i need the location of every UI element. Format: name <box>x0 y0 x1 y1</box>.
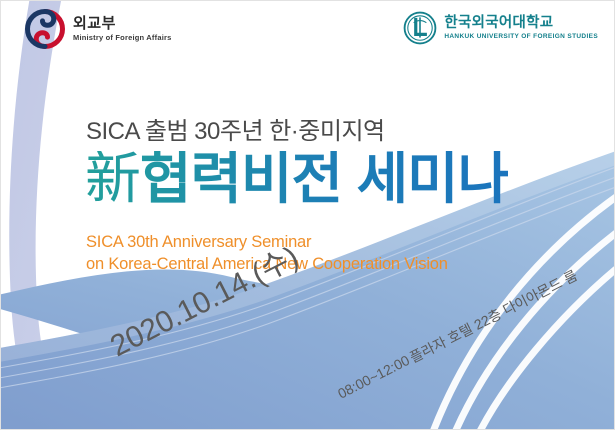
kicker-line: SICA 출범 30주년 한·중미지역 <box>86 111 385 146</box>
hufs-korean-name: 한국외국어대학교 <box>444 16 598 31</box>
hufs-english-name: HANKUK UNIVERSITY OF FOREIGN STUDIES <box>444 34 598 41</box>
english-subtitle: SICA 30th Anniversary Seminar on Korea-C… <box>86 231 448 276</box>
hufs-logo: 한국외국어대학교 HANKUK UNIVERSITY OF FOREIGN ST… <box>403 11 598 45</box>
headline-rest: 협력비전 세미나 <box>140 147 508 210</box>
headline-accent-char: 新 <box>85 147 140 210</box>
mofa-english-name: Ministry of Foreign Affairs <box>73 34 171 42</box>
subtitle-line-2: on Korea-Central America New Cooperation… <box>86 253 448 275</box>
hufs-seal-icon <box>403 11 437 45</box>
taegeuk-swirl-icon <box>25 9 65 49</box>
headline: 新협력비전 세미나 <box>85 151 508 207</box>
logo-row: 외교부 Ministry of Foreign Affairs 한국외국어대학교… <box>1 1 615 59</box>
seminar-poster: 외교부 Ministry of Foreign Affairs 한국외국어대학교… <box>0 0 615 430</box>
mofa-logo: 외교부 Ministry of Foreign Affairs <box>25 9 171 49</box>
subtitle-line-1: SICA 30th Anniversary Seminar <box>86 231 448 253</box>
background-artwork <box>1 1 615 430</box>
mofa-korean-name: 외교부 <box>73 16 171 31</box>
